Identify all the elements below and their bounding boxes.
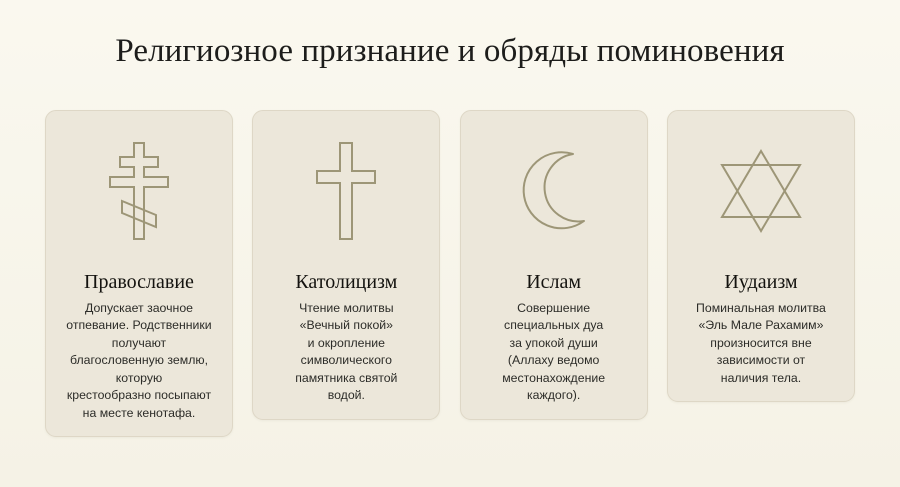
card-title: Православие bbox=[84, 271, 194, 293]
star-of-david-icon bbox=[676, 111, 846, 271]
card-orthodoxy[interactable]: Православие Допускает заочное отпевание.… bbox=[45, 110, 233, 437]
slide-root: Религиозное признание и обряды поминовен… bbox=[0, 0, 900, 487]
religion-cards-row: Православие Допускает заочное отпевание.… bbox=[45, 110, 855, 437]
card-body: Совершение специальных дуа за упокой душ… bbox=[502, 300, 605, 405]
card-body: Поминальная молитва «Эль Мале Рахамим» п… bbox=[696, 300, 826, 387]
card-judaism[interactable]: Иудаизм Поминальная молитва «Эль Мале Ра… bbox=[667, 110, 855, 402]
card-title: Иудаизм bbox=[724, 271, 797, 293]
card-islam[interactable]: Ислам Совершение специальных дуа за упок… bbox=[460, 110, 648, 420]
card-catholicism[interactable]: Католицизм Чтение молитвы «Вечный покой»… bbox=[252, 110, 440, 420]
card-body: Допускает заочное отпевание. Родственник… bbox=[66, 300, 211, 422]
card-body: Чтение молитвы «Вечный покой» и окроплен… bbox=[295, 300, 397, 405]
card-title: Католицизм bbox=[295, 271, 397, 293]
orthodox-cross-icon bbox=[54, 111, 224, 271]
card-title: Ислам bbox=[526, 271, 581, 293]
latin-cross-icon bbox=[261, 111, 431, 271]
page-title: Религиозное признание и обряды поминовен… bbox=[0, 33, 900, 70]
crescent-moon-icon bbox=[469, 111, 639, 271]
